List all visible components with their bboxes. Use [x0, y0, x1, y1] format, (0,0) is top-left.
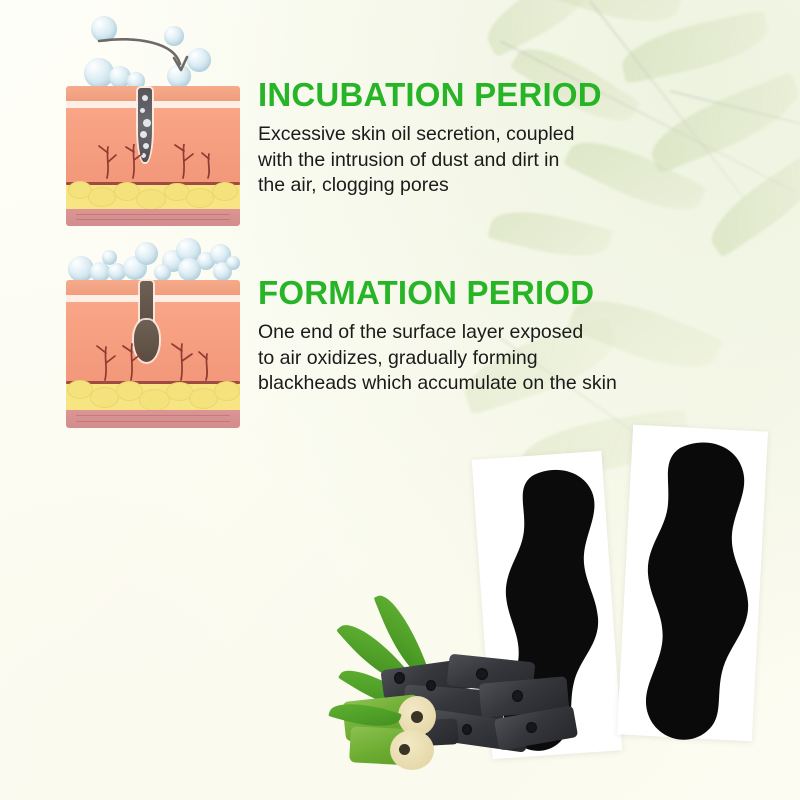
epidermis-pale-band — [66, 101, 240, 108]
subcutaneous-fat-layer — [66, 185, 240, 209]
sebum-particle — [140, 108, 145, 113]
nose-strip-right — [622, 436, 777, 746]
fat-lobule — [212, 182, 238, 201]
epidermis-layer — [66, 86, 240, 101]
bamboo-charcoal-ingredient — [330, 620, 580, 800]
fat-lobule — [90, 387, 119, 408]
watermark-leaf — [487, 201, 613, 267]
epidermis-pale-band — [66, 295, 240, 302]
infographic-canvas: INCUBATION PERIOD Excessive skin oil sec… — [0, 0, 800, 800]
fat-lobule — [136, 189, 166, 210]
section-body-incubation: Excessive skin oil secretion, coupled wi… — [258, 122, 658, 199]
bamboo-cut-hole — [411, 711, 423, 723]
subcutaneous-fat-layer — [66, 384, 240, 410]
body-line: blackheads which accumulate on the skin — [258, 371, 688, 397]
flow-arrow-icon — [96, 36, 196, 78]
sebum-particle — [142, 95, 148, 101]
section-title-formation: FORMATION PERIOD — [258, 274, 594, 312]
bubble-icon — [90, 262, 110, 282]
skin-layers — [66, 280, 240, 428]
muscle-layer — [66, 410, 240, 428]
section-title-incubation: INCUBATION PERIOD — [258, 76, 602, 114]
body-line: Excessive skin oil secretion, coupled — [258, 122, 658, 148]
charcoal-hollow — [462, 724, 472, 735]
muscle-striation — [76, 415, 229, 416]
sebum-particle — [140, 131, 147, 138]
section-body-formation: One end of the surface layer exposed to … — [258, 320, 688, 397]
body-line: with the intrusion of dust and dirt in — [258, 148, 658, 174]
muscle-striation — [76, 214, 229, 215]
muscle-striation — [76, 421, 229, 422]
skin-cross-section-blackhead — [66, 236, 240, 428]
charcoal-hollow — [426, 680, 436, 691]
bubble-icon — [135, 242, 158, 265]
watermark-leaf — [642, 72, 800, 175]
body-line: the air, clogging pores — [258, 173, 658, 199]
fat-lobule — [214, 381, 240, 401]
body-line: One end of the surface layer exposed — [258, 320, 688, 346]
fat-lobule — [186, 188, 214, 208]
charcoal-hollow — [394, 672, 405, 684]
bamboo-cut-face — [390, 730, 434, 770]
fat-lobule — [88, 187, 116, 207]
bamboo-cut-hole — [399, 744, 410, 755]
skin-cross-section-clogged-pore — [66, 8, 240, 226]
charcoal-hollow — [512, 690, 523, 702]
sebum-particle — [143, 119, 151, 127]
epidermis-layer — [66, 280, 240, 295]
bubble-icon — [102, 250, 117, 265]
muscle-layer — [66, 209, 240, 226]
skin-layers — [66, 86, 240, 226]
bubble-icon — [226, 256, 240, 270]
bubble-icon — [154, 264, 171, 281]
charcoal-hollow — [476, 668, 488, 680]
muscle-striation — [76, 219, 229, 220]
body-line: to air oxidizes, gradually forming — [258, 346, 688, 372]
charcoal-hollow — [526, 722, 537, 733]
